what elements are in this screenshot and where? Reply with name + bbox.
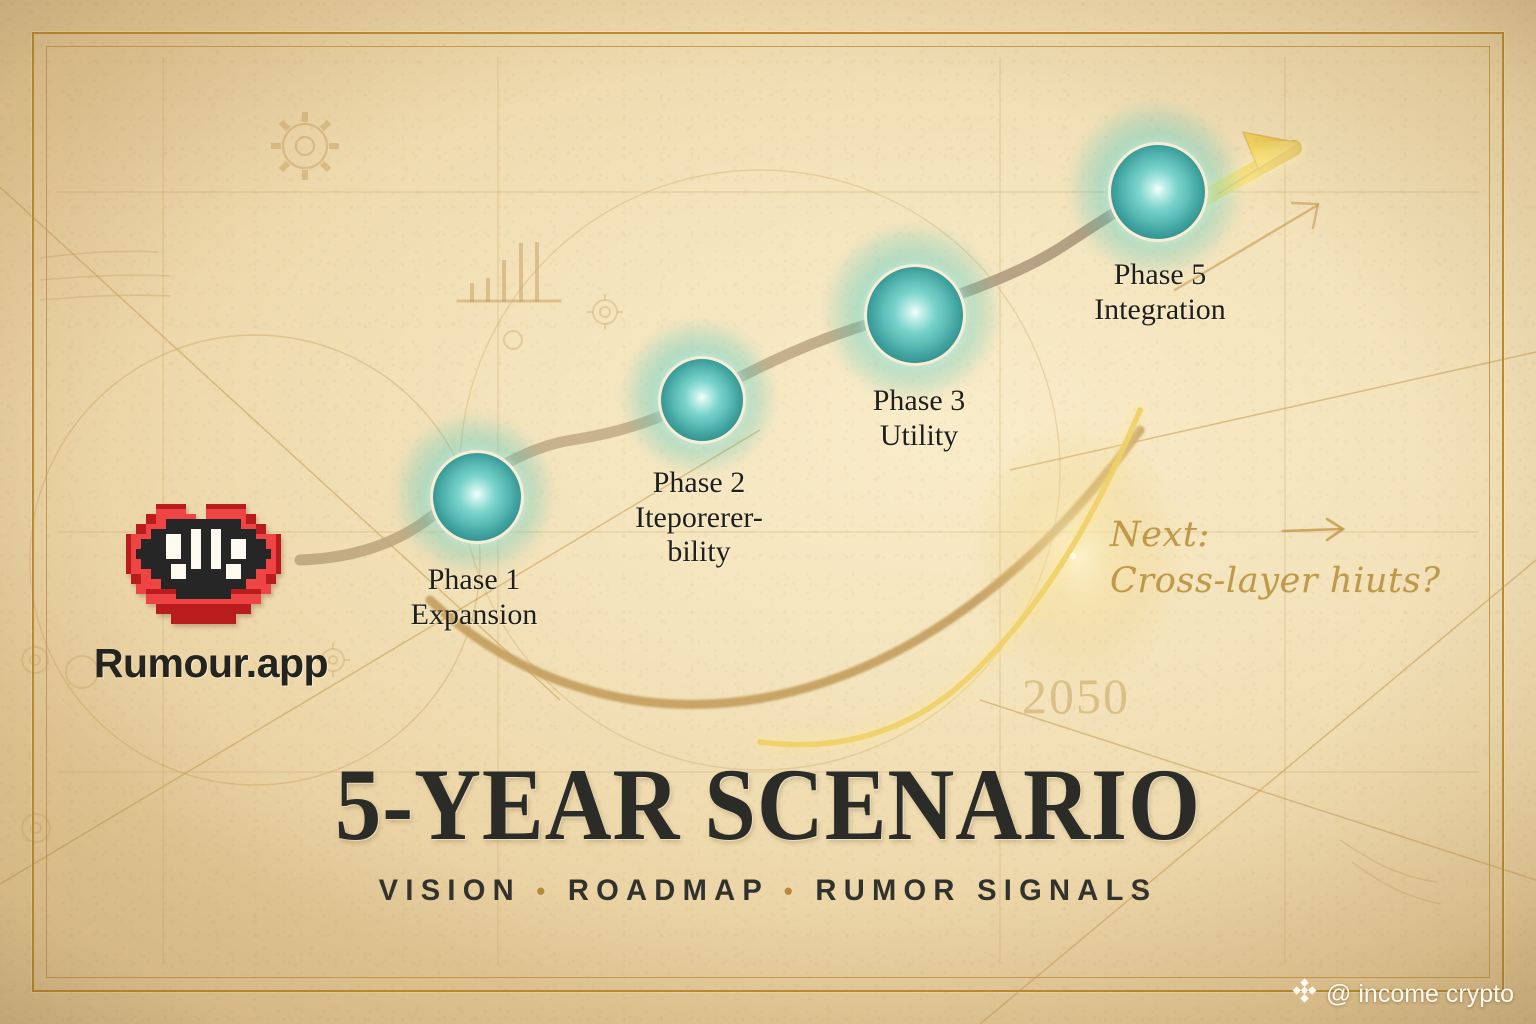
title-block: 5-YEAR SCENARIO VISION • ROADMAP • RUMOR… — [0, 756, 1536, 908]
phase-2-node[interactable] — [658, 356, 746, 444]
phase-2-number: Phase 2 — [589, 466, 809, 501]
subtitle-separator-2: • — [784, 876, 800, 906]
binance-diamond-icon — [1292, 978, 1317, 1010]
phase-1-name: Expansion — [364, 598, 584, 633]
handwritten-annotation: Next: Cross-layer hiuts? — [1110, 512, 1460, 604]
rumour-pixel-heart-icon — [111, 494, 311, 634]
annotation-line-1: Next: — [1110, 512, 1460, 558]
subtitle-separator-1: • — [536, 876, 552, 906]
brand-block: Rumour.app — [86, 494, 336, 687]
phase-5-node[interactable] — [1108, 142, 1208, 242]
brand-name: Rumour.app — [86, 640, 336, 687]
subtitle-part-2: ROADMAP — [568, 874, 769, 907]
phase-5-label: Phase 5 Integration — [1050, 258, 1270, 327]
phase-5-number: Phase 5 — [1050, 258, 1270, 293]
phase-1-label: Phase 1 Expansion — [364, 563, 584, 632]
phase-5-name: Integration — [1050, 293, 1270, 328]
page-subtitle: VISION • ROADMAP • RUMOR SIGNALS — [23, 874, 1513, 908]
watermark-handle: @ income crypto — [1326, 980, 1514, 1009]
phase-3-node[interactable] — [864, 264, 966, 366]
phase-3-number: Phase 3 — [809, 384, 1029, 419]
page-title: 5-YEAR SCENARIO — [77, 756, 1459, 855]
watermark: @ income crypto — [1292, 978, 1514, 1010]
phase-2-label: Phase 2 Iteporerer-bility — [589, 466, 809, 570]
phase-2-name: Iteporerer-bility — [589, 501, 809, 570]
poster-canvas: Rumour.app Phase 1 Expansion Phase 2 Ite… — [0, 0, 1536, 1024]
subtitle-part-3: RUMOR SIGNALS — [815, 874, 1157, 907]
annotation-line-2: Cross-layer hiuts? — [1110, 558, 1460, 604]
phase-1-number: Phase 1 — [364, 563, 584, 598]
phase-3-label: Phase 3 Utility — [809, 384, 1029, 453]
phase-3-name: Utility — [809, 419, 1029, 454]
ghost-year-label: 2050 — [1022, 667, 1130, 725]
subtitle-part-1: VISION — [379, 874, 521, 907]
phase-1-node[interactable] — [430, 450, 524, 544]
